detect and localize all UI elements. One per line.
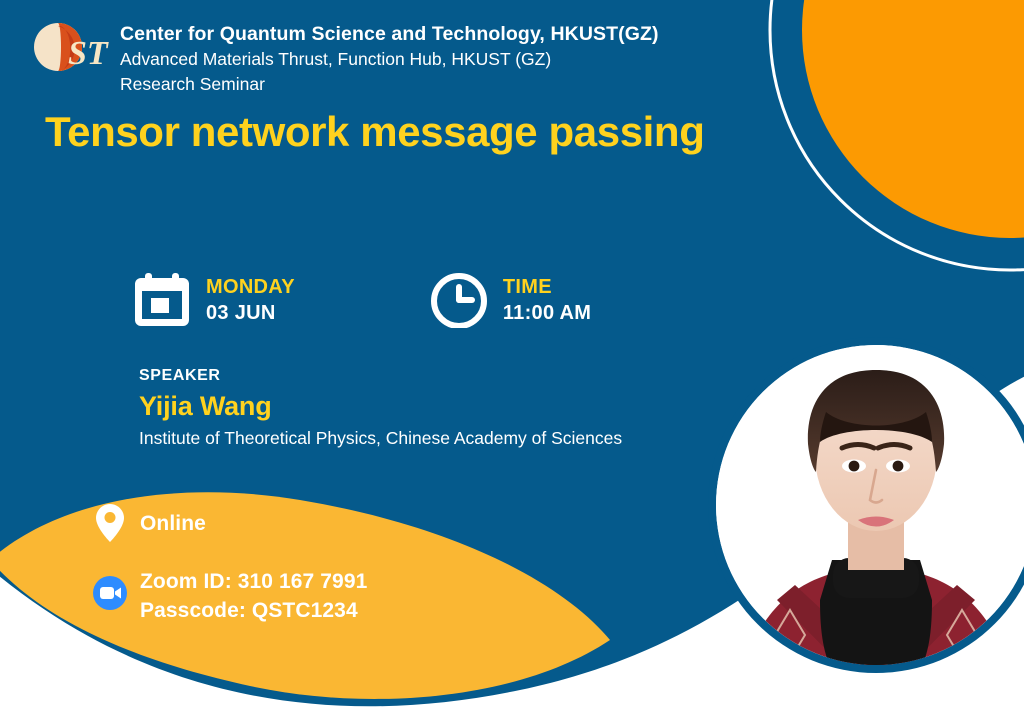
time-value: 11:00 AM — [503, 300, 591, 326]
org-line-3: Research Seminar — [120, 72, 659, 97]
speaker-block: SPEAKER Yijia Wang Institute of Theoreti… — [139, 365, 622, 451]
calendar-icon — [133, 272, 191, 333]
date-block: MONDAY 03 JUN — [133, 270, 295, 333]
top-right-orange-circle — [802, 0, 1024, 238]
zoom-row[interactable]: Zoom ID: 310 167 7991 Passcode: QSTC1234 — [92, 567, 367, 625]
seminar-poster: ST Center for Quantum Science and Techno… — [0, 0, 1024, 724]
zoom-text: Zoom ID: 310 167 7991 Passcode: QSTC1234 — [140, 567, 367, 625]
zoom-video-icon[interactable] — [92, 575, 128, 611]
schedule-row: MONDAY 03 JUN TIME 11:00 AM — [133, 270, 591, 333]
date-text: MONDAY 03 JUN — [206, 270, 295, 326]
location-text: Online — [140, 509, 206, 538]
time-text: TIME 11:00 AM — [503, 270, 591, 326]
logo-mark: ST — [28, 20, 116, 78]
time-label: TIME — [503, 274, 591, 300]
date-label: MONDAY — [206, 274, 295, 300]
speaker-affiliation: Institute of Theoretical Physics, Chines… — [139, 425, 622, 451]
map-pin-icon — [92, 503, 128, 543]
seminar-title: Tensor network message passing — [45, 108, 704, 156]
clock-icon — [430, 272, 488, 333]
org-line-2: Advanced Materials Thrust, Function Hub,… — [120, 47, 659, 72]
org-line-1: Center for Quantum Science and Technolog… — [120, 22, 659, 47]
zoom-id: Zoom ID: 310 167 7991 — [140, 567, 367, 596]
location-row: Online — [92, 503, 367, 543]
zoom-passcode: Passcode: QSTC1234 — [140, 596, 367, 625]
time-block: TIME 11:00 AM — [430, 270, 591, 333]
speaker-name: Yijia Wang — [139, 387, 622, 425]
poster-header: ST Center for Quantum Science and Techno… — [28, 16, 659, 97]
org-titles: Center for Quantum Science and Technolog… — [120, 16, 659, 97]
location-value: Online — [140, 509, 206, 538]
date-value: 03 JUN — [206, 300, 295, 326]
svg-text:ST: ST — [68, 35, 109, 72]
venue-block: Online Zoom ID: 310 167 7991 Passcode: Q… — [92, 503, 367, 625]
cqst-logo: ST — [28, 20, 116, 78]
speaker-label: SPEAKER — [139, 365, 622, 387]
